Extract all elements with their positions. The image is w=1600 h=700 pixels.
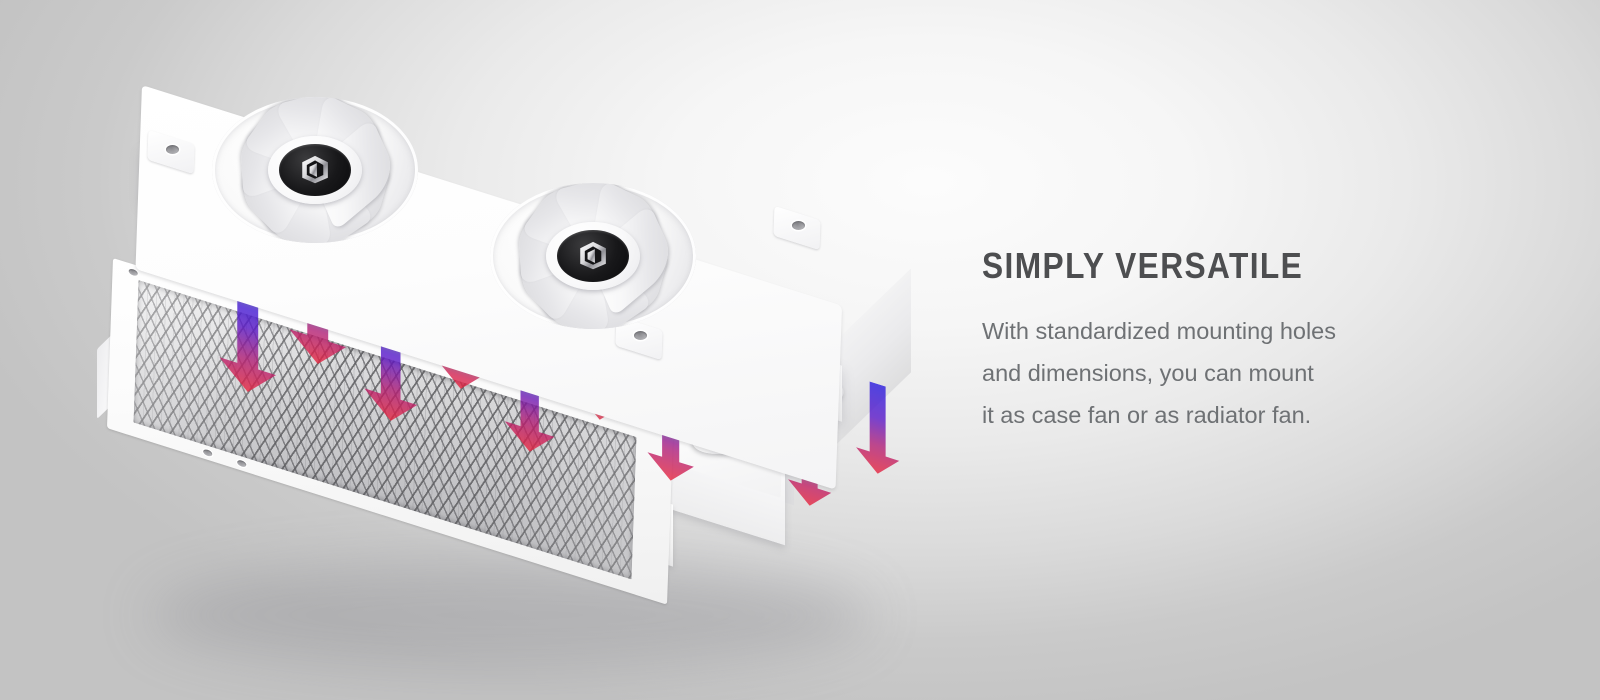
body-line: it as case fan or as radiator fan. (982, 394, 1502, 436)
id-cooling-logo (571, 240, 615, 271)
body-line: With standardized mounting holes (982, 310, 1502, 352)
id-cooling-logo (293, 154, 337, 185)
product-illustration (0, 0, 1000, 700)
fan-hub-sticker (557, 230, 628, 282)
fan-hub-sticker (279, 144, 350, 196)
fan-mount-hole (792, 221, 805, 230)
fan-mount-hole (166, 145, 179, 154)
fan-mount-hole (634, 331, 647, 340)
fan-left (212, 97, 418, 243)
product-hero-banner: SIMPLY VERSATILE With standardized mount… (0, 0, 1600, 700)
body-copy: With standardized mounting holes and dim… (982, 310, 1502, 436)
copy-block: SIMPLY VERSATILE With standardized mount… (982, 248, 1502, 436)
body-line: and dimensions, you can mount (982, 352, 1502, 394)
page-title: SIMPLY VERSATILE (982, 248, 1440, 284)
fan-right (490, 183, 696, 329)
dual-fan-assembly (130, 85, 900, 395)
